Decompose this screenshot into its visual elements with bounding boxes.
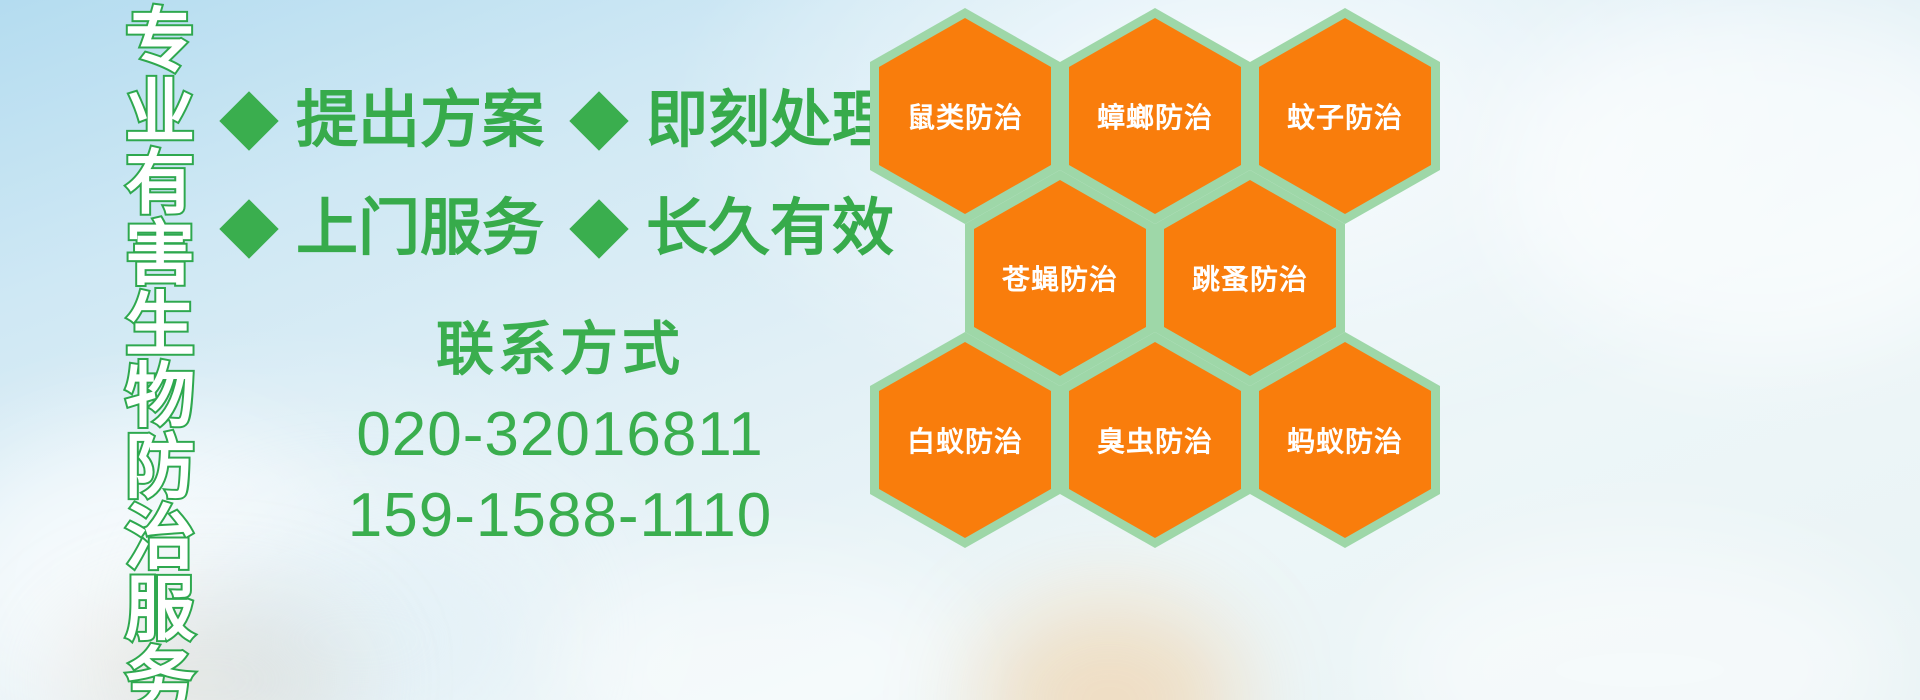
- phone-landline[interactable]: 020-32016811: [300, 396, 820, 474]
- service-label: 蟑螂防治: [1097, 96, 1213, 136]
- diamond-bullet-icon: [219, 199, 278, 258]
- service-label: 臭虫防治: [1097, 420, 1213, 460]
- vertical-headline-char: 有: [125, 148, 195, 219]
- hex-inner: 蚊子防治: [1259, 18, 1431, 214]
- vertical-headline: 专业有害生物防治服务: [108, 6, 212, 566]
- vertical-headline-char: 服: [125, 574, 195, 645]
- feature-label-onsite-service: 上门服务: [296, 198, 544, 260]
- vertical-headline-char: 专: [125, 6, 195, 77]
- feature-row-bottom: 上门服务 长久有效: [228, 198, 894, 260]
- feature-label-long-lasting: 长久有效: [646, 198, 894, 260]
- service-label: 苍蝇防治: [1002, 258, 1118, 298]
- phone-mobile[interactable]: 159-1588-1110: [300, 477, 820, 555]
- service-hexagon-grid: 鼠类防治 蟑螂防治 蚊子防治 苍蝇防治 跳蚤防治 白蚁防治: [862, 0, 1462, 560]
- contact-block: 联系方式 020-32016811 159-1588-1110: [300, 318, 820, 555]
- background-blob: [60, 600, 360, 700]
- vertical-headline-char: 生: [125, 290, 195, 361]
- background-blob: [1380, 540, 1900, 700]
- background-blob: [560, 560, 980, 700]
- vertical-headline-char: 防: [125, 432, 195, 503]
- feature-label-immediate-handling: 即刻处理: [646, 90, 894, 152]
- hex-inner: 苍蝇防治: [974, 180, 1146, 376]
- feature-label-propose-plan: 提出方案: [296, 90, 544, 152]
- feature-row-top: 提出方案 即刻处理: [228, 90, 894, 152]
- service-label: 跳蚤防治: [1192, 258, 1308, 298]
- hex-inner: 白蚁防治: [879, 342, 1051, 538]
- service-label: 蚊子防治: [1287, 96, 1403, 136]
- hex-inner: 蚂蚁防治: [1259, 342, 1431, 538]
- hex-inner: 跳蚤防治: [1164, 180, 1336, 376]
- vertical-headline-char: 物: [125, 361, 195, 432]
- vertical-headline-char: 务: [125, 645, 195, 700]
- vertical-headline-char: 业: [125, 77, 195, 148]
- vertical-headline-char: 治: [125, 503, 195, 574]
- vertical-headline-char: 害: [125, 219, 195, 290]
- contact-title: 联系方式: [300, 318, 820, 382]
- service-label: 白蚁防治: [907, 420, 1023, 460]
- diamond-bullet-icon: [569, 91, 628, 150]
- service-label: 蚂蚁防治: [1287, 420, 1403, 460]
- service-label: 鼠类防治: [907, 96, 1023, 136]
- diamond-bullet-icon: [569, 199, 628, 258]
- background-blob: [980, 600, 1240, 700]
- hex-inner: 蟑螂防治: [1069, 18, 1241, 214]
- pest-control-banner: 专业有害生物防治服务 提出方案 即刻处理 上门服务 长久有效 联系方式 020-…: [0, 0, 1920, 700]
- diamond-bullet-icon: [219, 91, 278, 150]
- hex-inner: 鼠类防治: [879, 18, 1051, 214]
- background-blob: [1500, 0, 1920, 360]
- hex-inner: 臭虫防治: [1069, 342, 1241, 538]
